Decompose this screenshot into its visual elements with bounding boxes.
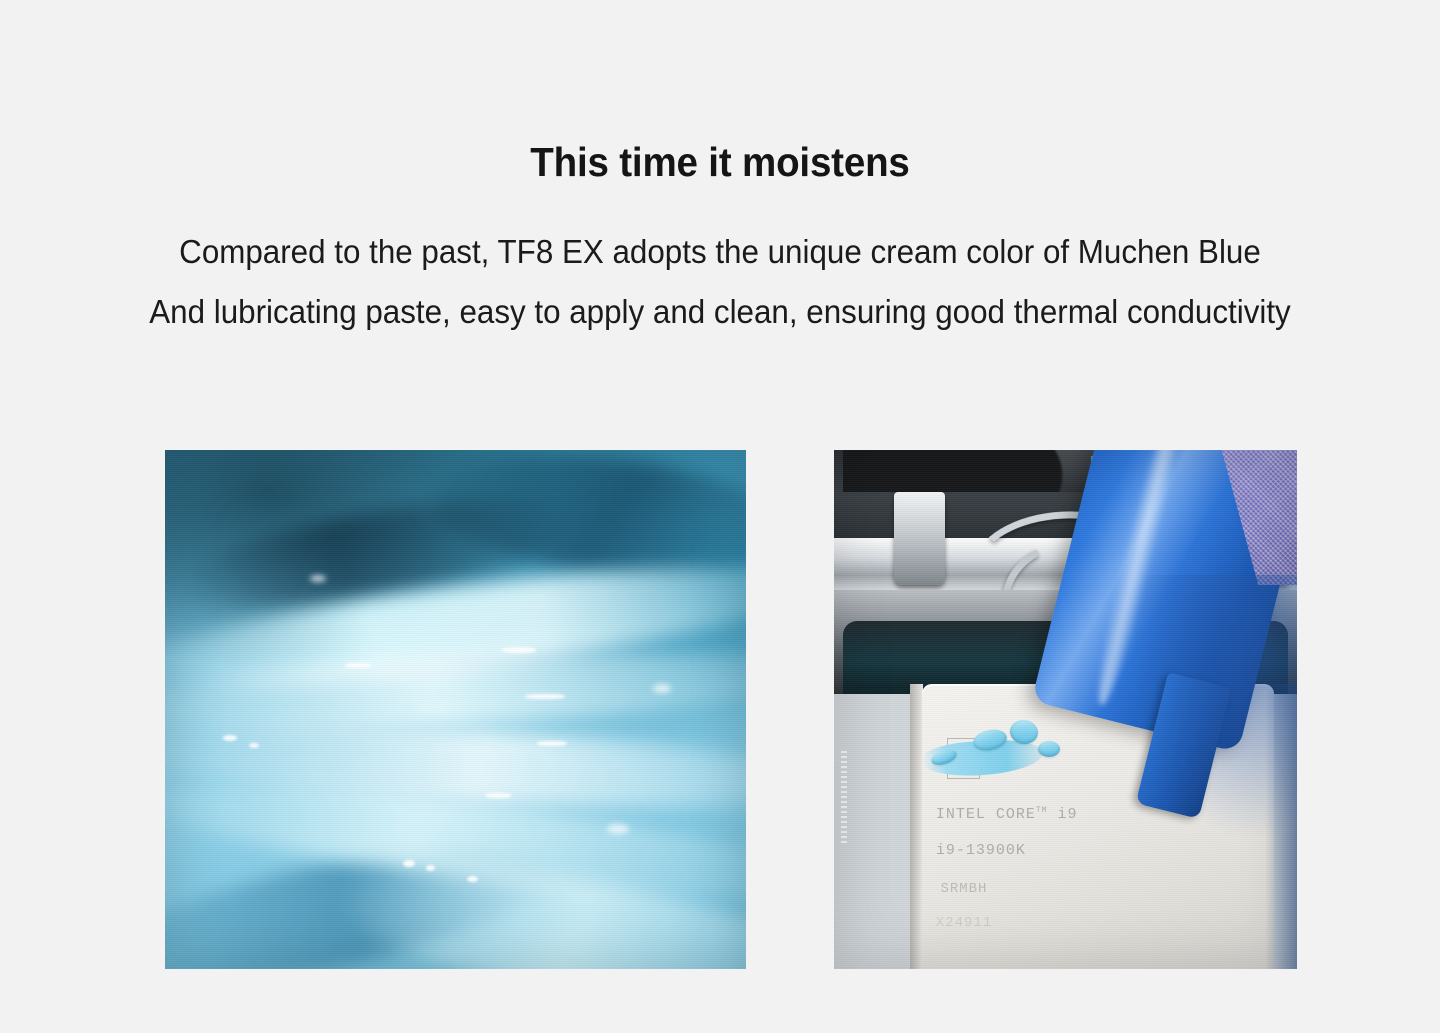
- paste-highlight: [467, 876, 478, 882]
- cpu-brand-label: INTEL CORE: [936, 806, 1036, 823]
- paste-highlight: [653, 684, 671, 693]
- cpu-tier-label: i9: [1057, 806, 1077, 823]
- cpu-sspec-text: SRMBH: [940, 881, 987, 897]
- paste-highlight: [345, 663, 371, 668]
- cpu-heatspreader-edge: [910, 684, 923, 969]
- paste-highlight: [310, 575, 326, 582]
- description-line-1: Compared to the past, TF8 EX adopts the …: [36, 222, 1404, 282]
- cpu-brand-text: INTEL CORETM i9: [936, 806, 1078, 823]
- cpu-serial-text: X24911: [936, 915, 992, 931]
- cpu-model-text: i9-13900K: [936, 842, 1026, 859]
- cpu-application-image: 101 INTEL CORETM i9 i9-13900K: [834, 450, 1297, 969]
- cpu-trademark-label: TM: [1036, 806, 1048, 815]
- paste-highlight: [525, 694, 565, 699]
- paste-highlight: [607, 824, 629, 834]
- paste-bead: [1038, 741, 1060, 757]
- product-detail-page: This time it moistens Compared to the pa…: [0, 0, 1440, 1033]
- socket-pin-array: [841, 751, 847, 844]
- description-block: Compared to the past, TF8 EX adopts the …: [0, 222, 1440, 342]
- thermal-paste-macro-image: [165, 450, 746, 969]
- paste-highlight: [537, 741, 567, 746]
- description-line-2: And lubricating paste, easy to apply and…: [36, 282, 1404, 342]
- paste-highlight: [485, 793, 511, 798]
- page-title: This time it moistens: [43, 139, 1397, 186]
- syringe-highlight: [1088, 450, 1186, 708]
- cpu-shadow: [1265, 684, 1297, 969]
- retention-lever: [894, 492, 945, 585]
- cpu-scene: 101 INTEL CORETM i9 i9-13900K: [834, 450, 1297, 969]
- image-gallery: 101 INTEL CORETM i9 i9-13900K: [125, 434, 1337, 953]
- paste-highlight: [502, 647, 536, 653]
